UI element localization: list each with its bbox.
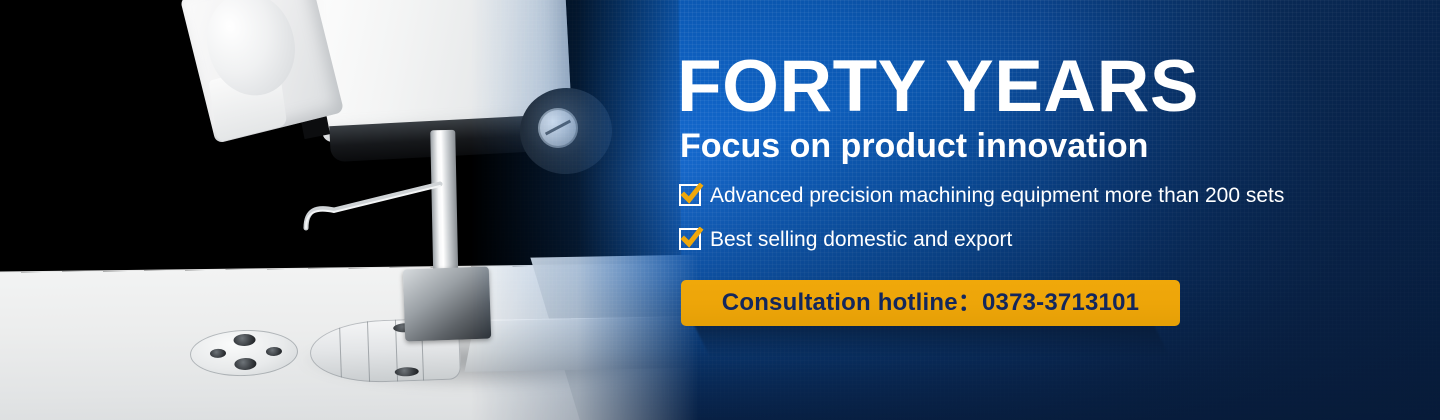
presser-foot-lever	[300, 176, 450, 236]
promo-banner: FORTY YEARS Focus on product innovation …	[0, 0, 1440, 420]
machine-slide-plate	[465, 316, 696, 372]
sewing-machine-photo	[0, 0, 760, 420]
machine-presser-foot	[403, 267, 491, 342]
hotline-label: Consultation hotline：0373-3713101	[722, 291, 1139, 315]
checkbox-checked-icon	[679, 184, 701, 206]
feature-text: Best selling domestic and export	[710, 229, 1012, 250]
list-item: Advanced precision machining equipment m…	[679, 183, 1284, 207]
feature-text: Advanced precision machining equipment m…	[710, 185, 1284, 206]
feature-list: Advanced precision machining equipment m…	[679, 183, 1284, 271]
photo-fade-mask	[0, 0, 760, 420]
banner-subheadline: Focus on product innovation	[680, 129, 1148, 163]
consultation-hotline-button[interactable]: Consultation hotline：0373-3713101	[681, 280, 1180, 326]
list-item: Best selling domestic and export	[679, 227, 1284, 251]
checkbox-checked-icon	[679, 228, 701, 250]
machine-screw-icon	[538, 108, 578, 148]
banner-headline: FORTY YEARS	[677, 50, 1199, 123]
